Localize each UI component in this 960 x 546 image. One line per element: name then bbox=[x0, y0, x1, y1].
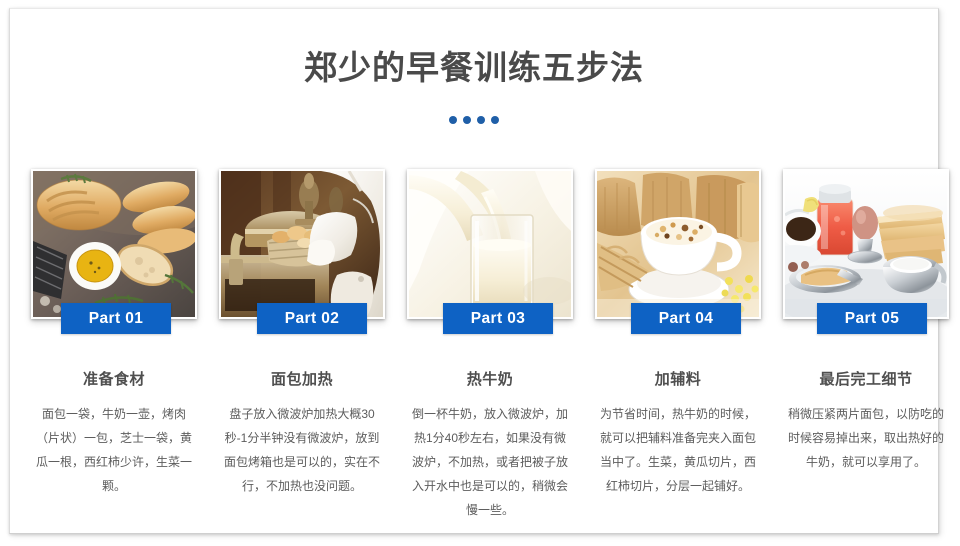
decorative-dot-icon bbox=[491, 116, 499, 124]
card-title: 最后完工细节 bbox=[783, 368, 949, 389]
card-title: 热牛奶 bbox=[407, 368, 573, 389]
card-title: 面包加热 bbox=[219, 368, 385, 389]
card-photo-frame: Part 04 bbox=[595, 169, 761, 319]
step-card: Part 04 加辅料 为节省时间，热牛奶的时候，就可以把辅料准备完夹入面包当中… bbox=[595, 169, 761, 522]
decorative-dot-icon bbox=[449, 116, 457, 124]
card-photo-frame: Part 03 bbox=[407, 169, 573, 319]
bread-and-olive-oil-photo bbox=[33, 171, 195, 317]
part-badge[interactable]: Part 05 bbox=[817, 303, 927, 334]
card-title: 准备食材 bbox=[31, 368, 197, 389]
step-card: Part 02 面包加热 盘子放入微波炉加热大概30秒-1分半钟没有微波炉，放到… bbox=[219, 169, 385, 522]
step-card: Part 01 准备食材 面包一袋，牛奶一壶，烤肉（片状）一包，芝士一袋，黄瓜一… bbox=[31, 169, 197, 522]
card-body-text: 稍微压紧两片面包，以防吃的时候容易掉出来，取出热好的牛奶，就可以享用了。 bbox=[783, 402, 949, 474]
card-photo-frame: Part 01 bbox=[31, 169, 197, 319]
part-badge[interactable]: Part 03 bbox=[443, 303, 553, 334]
title-dot-decoration bbox=[10, 116, 938, 124]
chef-serving-bread-photo bbox=[221, 171, 383, 317]
card-photo-frame: Part 02 bbox=[219, 169, 385, 319]
card-body-text: 盘子放入微波炉加热大概30秒-1分半钟没有微波炉，放到面包烤箱也是可以的，实在不… bbox=[219, 402, 385, 498]
pouring-milk-glass-photo bbox=[409, 171, 571, 317]
card-body-text: 为节省时间，热牛奶的时候，就可以把辅料准备完夹入面包当中了。生菜，黄瓜切片，西红… bbox=[595, 402, 761, 498]
part-badge[interactable]: Part 04 bbox=[631, 303, 741, 334]
card-title: 加辅料 bbox=[595, 368, 761, 389]
slide-canvas: 郑少的早餐训练五步法 bbox=[9, 8, 939, 534]
decorative-dot-icon bbox=[477, 116, 485, 124]
breakfast-table-jam-egg-toast-photo bbox=[785, 171, 947, 317]
card-body-text: 倒一杯牛奶，放入微波炉，加热1分40秒左右，如果没有微波炉，不加热，或者把被子放… bbox=[407, 402, 573, 522]
step-card: Part 03 热牛奶 倒一杯牛奶，放入微波炉，加热1分40秒左右，如果没有微波… bbox=[407, 169, 573, 522]
step-card-list: Part 01 准备食材 面包一袋，牛奶一壶，烤肉（片状）一包，芝士一袋，黄瓜一… bbox=[31, 169, 949, 522]
decorative-dot-icon bbox=[463, 116, 471, 124]
slide-root: 郑少的早餐训练五步法 bbox=[0, 0, 960, 546]
page-title: 郑少的早餐训练五步法 bbox=[10, 45, 938, 91]
card-body-text: 面包一袋，牛奶一壶，烤肉（片状）一包，芝士一袋，黄瓜一根，西红柿少许，生菜一颗。 bbox=[31, 402, 197, 498]
part-badge[interactable]: Part 02 bbox=[257, 303, 367, 334]
cereal-cup-with-wheat-photo bbox=[597, 171, 759, 317]
part-badge[interactable]: Part 01 bbox=[61, 303, 171, 334]
card-photo-frame: Part 05 bbox=[783, 169, 949, 319]
step-card: Part 05 最后完工细节 稍微压紧两片面包，以防吃的时候容易掉出来，取出热好… bbox=[783, 169, 949, 522]
